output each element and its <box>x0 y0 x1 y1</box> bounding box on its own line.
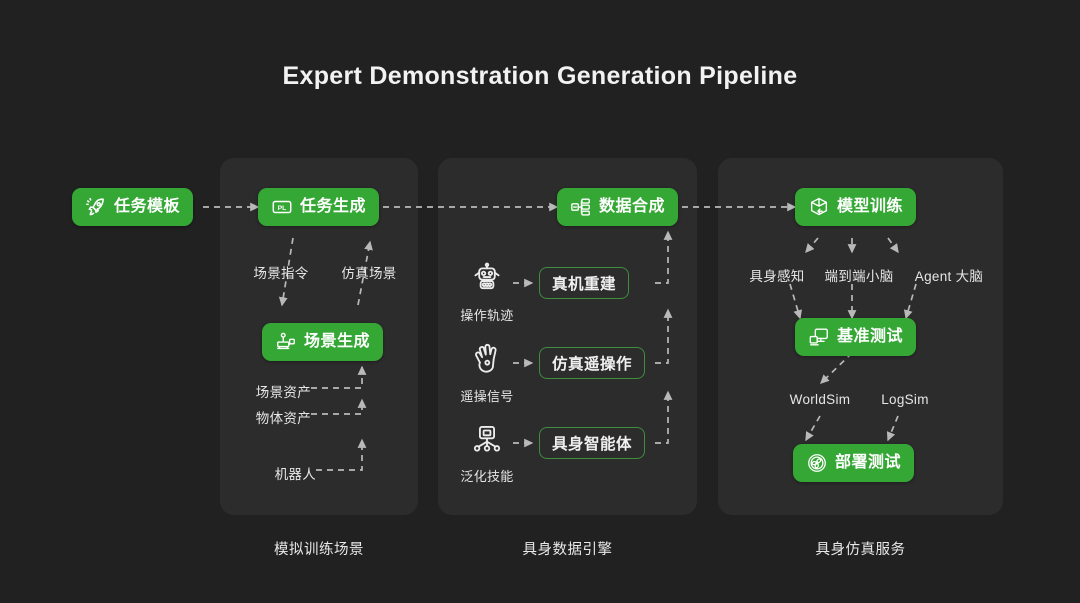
node-model-training[interactable]: 模型训练 <box>795 188 916 226</box>
svg-text:PL: PL <box>278 205 287 212</box>
monitor-icon <box>808 326 830 348</box>
caption-panel-2: 具身数据引擎 <box>438 538 697 559</box>
node-task-generation[interactable]: PL 任务生成 <box>258 188 379 226</box>
caption-panel-3: 具身仿真服务 <box>718 538 1003 559</box>
data-flow-icon <box>570 196 592 218</box>
edge-label-embodied-perception: 具身感知 <box>738 265 816 285</box>
rocket-icon <box>85 196 107 218</box>
node-label: 场景生成 <box>304 334 370 350</box>
edge-label-teleop-signal: 遥操信号 <box>455 386 519 405</box>
chip-network-icon <box>470 422 504 456</box>
card-pl-icon: PL <box>271 196 293 218</box>
node-deployment-test[interactable]: 部署测试 <box>793 444 914 482</box>
edge-label-worldsim: WorldSim <box>770 392 870 407</box>
cube-arrow-icon <box>808 196 830 218</box>
edge-label-robot: 机器人 <box>234 463 316 483</box>
edge-label-scene-instruction: 场景指令 <box>240 262 322 282</box>
edge-label-agent-brain: Agent 大脑 <box>901 265 997 285</box>
diagram-canvas: Expert Demonstration Generation Pipeline <box>0 0 1080 603</box>
node-label: 部署测试 <box>835 455 901 471</box>
edge-label-simulated-scene: 仿真场景 <box>328 262 410 282</box>
edge-label-scene-assets: 场景资产 <box>229 381 311 401</box>
node-sim-teleoperation[interactable]: 仿真遥操作 <box>539 347 645 379</box>
node-data-synthesis[interactable]: 数据合成 <box>557 188 678 226</box>
edge-label-end-to-end-cerebellum: 端到端小脑 <box>813 265 905 285</box>
edge-label-object-assets: 物体资产 <box>229 407 311 427</box>
node-label: 数据合成 <box>599 199 665 215</box>
robot-icon <box>470 262 504 296</box>
edge-label-operation-trajectory: 操作轨迹 <box>455 305 519 324</box>
glove-icon <box>470 342 504 376</box>
robot-arm-icon <box>275 331 297 353</box>
node-embodied-agent[interactable]: 具身智能体 <box>539 427 645 459</box>
node-label: 任务生成 <box>300 199 366 215</box>
edge-label-generalization-skill: 泛化技能 <box>455 466 519 485</box>
node-label: 任务模板 <box>114 199 180 215</box>
node-real-machine-rebuild[interactable]: 真机重建 <box>539 267 629 299</box>
page-title: Expert Demonstration Generation Pipeline <box>0 62 1080 91</box>
fan-circle-icon <box>806 452 828 474</box>
node-label: 模型训练 <box>837 199 903 215</box>
caption-panel-1: 模拟训练场景 <box>220 538 418 559</box>
node-label: 基准测试 <box>837 329 903 345</box>
node-task-template[interactable]: 任务模板 <box>72 188 193 226</box>
node-benchmark-test[interactable]: 基准测试 <box>795 318 916 356</box>
edge-label-logsim: LogSim <box>866 392 944 407</box>
node-scene-generation[interactable]: 场景生成 <box>262 323 383 361</box>
